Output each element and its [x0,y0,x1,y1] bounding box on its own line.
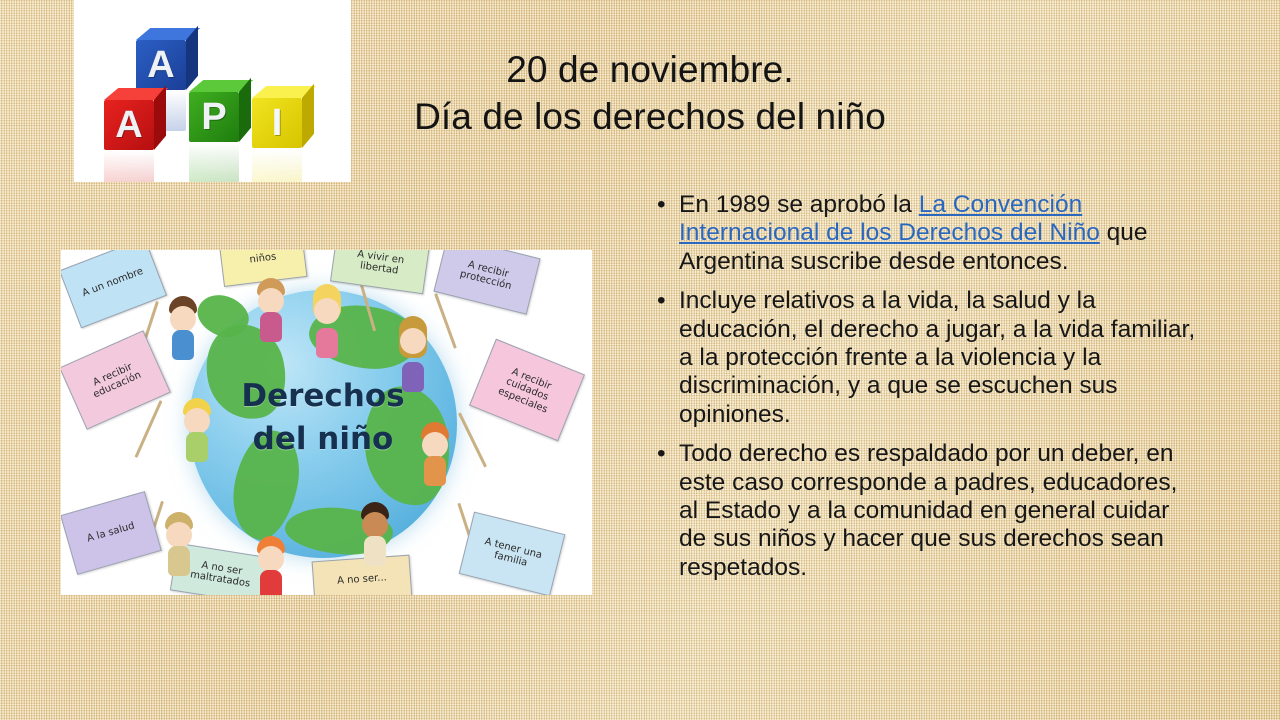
sign-text: A recibir cuidados especiales [480,358,575,423]
body-bullet-list: • En 1989 se aprobó la La Convención Int… [652,191,1197,593]
bullet-text: Incluye relativos a la vida, la salud y … [679,287,1195,428]
list-item: • En 1989 se aprobó la La Convención Int… [652,191,1197,276]
child-body [260,312,282,342]
block-letter: I [252,98,302,148]
child-head [170,306,196,332]
child-body [260,570,282,595]
child-body [424,456,446,486]
sign-text: A tener una familia [467,532,556,575]
child-body [364,536,386,566]
red-block-a: A [104,88,166,150]
sign-text: A vivir en libertad [336,250,424,280]
sign-stick [434,293,457,349]
sign-a-vivir-en-libertad: A vivir en libertad [330,250,430,294]
child-body [316,328,338,358]
child-head [166,522,192,548]
bullet-glyph: • [657,287,666,315]
child-head [314,298,340,324]
child-body [402,362,424,392]
sign-text: niños [249,252,277,267]
block-reflection [104,151,154,182]
bullet-segment-plain: En 1989 se aprobó la [679,191,919,218]
sign-a-la-salud: A la salud [61,491,162,575]
sign-text: A la salud [86,521,136,546]
list-item: • Todo derecho es respaldado por un debe… [652,440,1197,582]
bullet-text: Todo derecho es respaldado por un deber,… [679,440,1177,581]
sign-a-tener-una-familia: A tener una familia [459,512,566,595]
sign-a-recibir-cuidados-especiales: A recibir cuidados especiales [469,339,585,442]
sign-stick [458,412,487,467]
child-head [400,328,426,354]
sign-text: A recibir protección [442,253,533,297]
title-line-2: Día de los derechos del niño [360,93,940,140]
bullet-glyph: • [657,191,666,219]
slide-canvas: 20 de noviembre. Día de los derechos del… [0,0,1280,720]
child-head [258,288,284,314]
child-head [362,512,388,538]
child-body [186,432,208,462]
sign-text: A no ser... [337,573,387,588]
sign-text: A recibir educación [72,352,158,407]
block-reflection [189,143,239,182]
block-letter: P [189,92,239,142]
bullet-glyph: • [657,440,666,468]
green-block-p: P [189,80,251,142]
yellow-block-i: I [252,86,314,148]
child-body [168,546,190,576]
globe-caption-line-2: del niño [189,421,457,458]
child-head [184,408,210,434]
block-letter: A [136,40,186,90]
child-head [258,546,284,572]
child-body [172,330,194,360]
block-reflection [252,149,302,182]
sign-a-no-ser: A no ser... [312,555,413,595]
child-head [422,432,448,458]
list-item: • Incluye relativos a la vida, la salud … [652,287,1197,429]
block-letter: A [104,100,154,150]
bullet-text: En 1989 se aprobó la La Convención Inter… [679,191,1148,275]
title-line-1: 20 de noviembre. [360,46,940,93]
sign-stick [135,400,163,458]
sign-a-recibir-proteccion: A recibir protección [433,250,540,315]
logo-image: A A P I [74,0,351,182]
page-title: 20 de noviembre. Día de los derechos del… [360,46,940,141]
childrens-rights-illustration: Derechos del niño A un nombre niños A vi… [61,250,592,595]
sign-text: A un nombre [81,266,145,300]
